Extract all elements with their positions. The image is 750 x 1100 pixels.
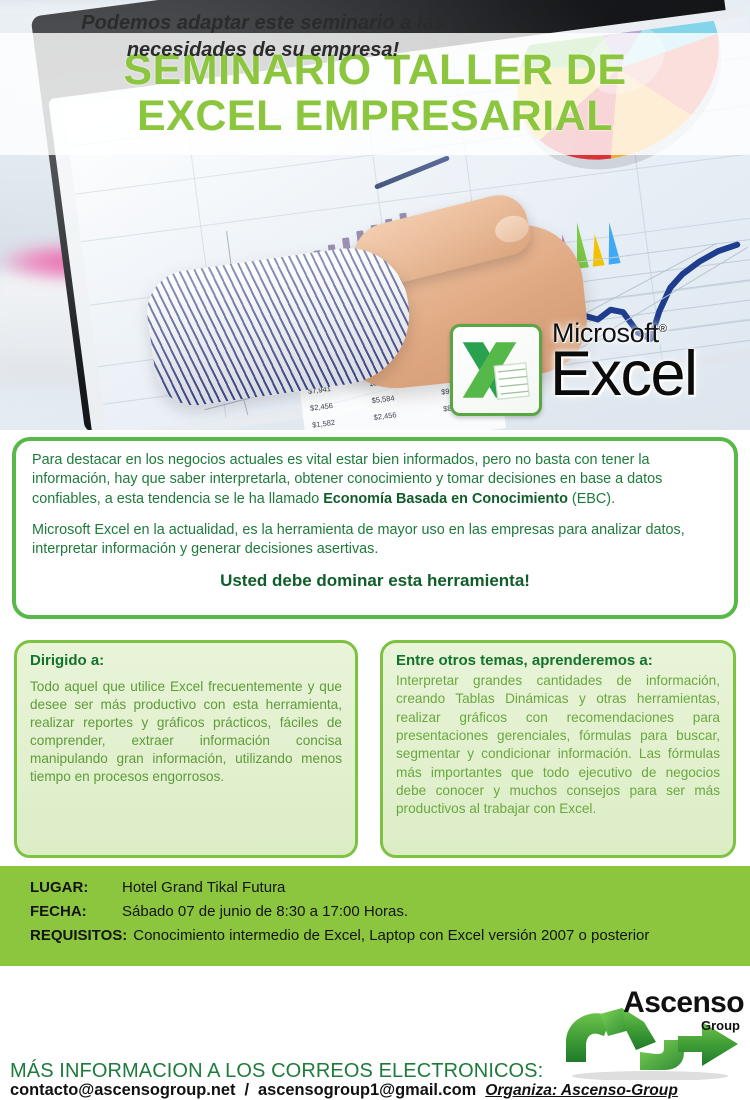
detail-row-fecha: FECHA: Sábado 07 de junio de 8:30 a 17:0… (30, 903, 750, 920)
audience-panel: Dirigido a: Todo aquel que utilice Excel… (14, 640, 358, 858)
lugar-value: Hotel Grand Tikal Futura (122, 879, 285, 896)
topics-heading: Entre otros temas, aprenderemos a: (396, 652, 720, 669)
audience-body: Todo aquel que utilice Excel frecuenteme… (30, 678, 342, 786)
requisitos-label: REQUISITOS: (30, 927, 127, 944)
intro-paragraph-1: Para destacar en los negocios actuales e… (32, 451, 718, 509)
group-wordmark: Group (701, 1018, 740, 1033)
ascenso-group-logo: Ascenso Group (560, 988, 746, 1080)
intro-text-bold: Economía Basada en Conocimiento (323, 491, 568, 507)
detail-row-lugar: LUGAR: Hotel Grand Tikal Futura (30, 879, 750, 896)
excel-badge-icon (450, 324, 542, 416)
adapt-line-1: Podemos adaptar este seminario a las (18, 10, 508, 37)
event-details-band: LUGAR: Hotel Grand Tikal Futura FECHA: S… (0, 866, 750, 966)
fecha-value: Sábado 07 de junio de 8:30 a 17:00 Horas… (122, 903, 408, 920)
email-secondary[interactable]: ascensogroup1@gmail.com (258, 1081, 476, 1100)
hero-image: 300000 250000 200000 150000 100000 50000 (0, 0, 750, 430)
flyer-page: 300000 250000 200000 150000 100000 50000 (0, 0, 750, 1100)
intro-text-b: (EBC). (568, 491, 615, 507)
adapt-message: Podemos adaptar este seminario a las nec… (18, 10, 508, 64)
adapt-line-2: necesidades de su empresa! (18, 37, 508, 64)
topics-body: Interpretar grandes cantidades de inform… (396, 672, 720, 819)
excel-x-glyph (459, 333, 533, 407)
ascenso-wordmark: Ascenso (623, 988, 744, 1018)
fecha-label: FECHA: (30, 903, 122, 920)
audience-heading: Dirigido a: (30, 652, 342, 669)
excel-wordmark: Excel (550, 343, 697, 406)
email-separator: / (244, 1081, 249, 1100)
title-line-2: EXCEL EMPRESARIAL (137, 94, 613, 140)
microsoft-excel-logo: Microsoft® Excel (450, 310, 746, 422)
detail-row-requisitos: REQUISITOS: Conocimiento intermedio de E… (30, 927, 750, 944)
intro-panel: Para destacar en los negocios actuales e… (12, 437, 738, 619)
topics-panel: Entre otros temas, aprenderemos a: Inter… (380, 640, 736, 858)
more-info-heading: MÁS INFORMACION A LOS CORREOS ELECTRONIC… (10, 1060, 543, 1083)
requisitos-value: Conocimiento intermedio de Excel, Laptop… (133, 927, 649, 944)
intro-paragraph-2: Microsoft Excel en la actualidad, es la … (32, 521, 718, 560)
organizer-credit: Organiza: Ascenso-Group (485, 1082, 678, 1100)
contact-emails: contacto@ascensogroup.net / ascensogroup… (10, 1081, 678, 1100)
intro-call-to-action: Usted debe dominar esta herramienta! (32, 571, 718, 591)
lugar-label: LUGAR: (30, 879, 122, 896)
email-primary[interactable]: contacto@ascensogroup.net (10, 1081, 235, 1100)
excel-registered-mark: ® (659, 323, 667, 335)
